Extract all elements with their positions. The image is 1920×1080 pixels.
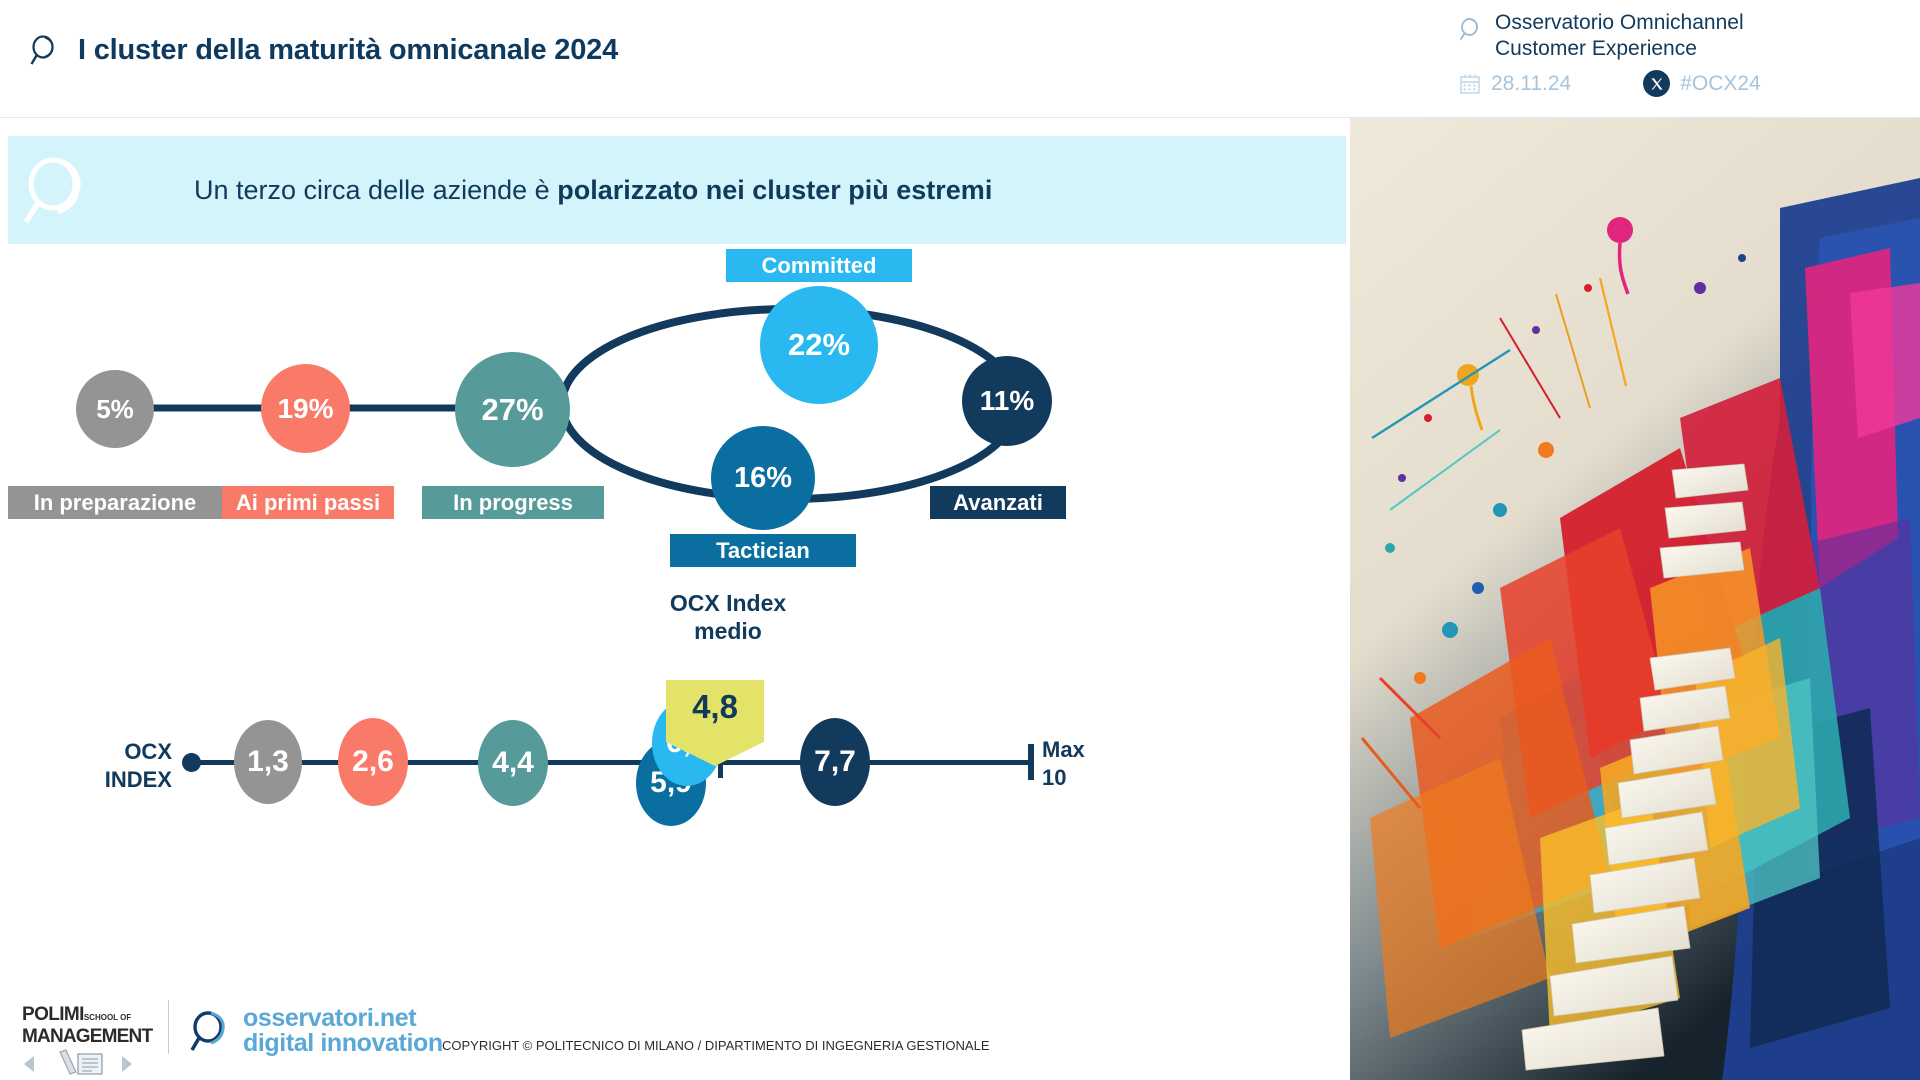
hashtag-label: #OCX24 <box>1680 72 1761 96</box>
cluster-share: 5% <box>96 394 134 425</box>
polimi-line-2: MANAGEMENT <box>22 1026 148 1048</box>
axis-end-tick <box>1028 744 1034 780</box>
polimi-word: POLIMI <box>22 1004 84 1025</box>
caption-line-1: OCX Index <box>648 590 808 618</box>
footer-divider <box>168 1000 169 1054</box>
cluster-node-avanzati[interactable]: 11% <box>962 356 1052 446</box>
page-header: I cluster della maturità omnicanale 2024… <box>0 0 1920 118</box>
title-row: I cluster della maturità omnicanale 2024 <box>28 33 618 67</box>
ocx-value: 1,3 <box>247 745 289 779</box>
magnifier-icon <box>20 152 96 228</box>
polimi-logo: POLIMISCHOOL OF MANAGEMENT <box>22 1004 148 1080</box>
oss-line-1: osservatori.net <box>243 1006 443 1031</box>
ocx-bubble-ai-primi-passi[interactable]: 2,6 <box>338 718 408 806</box>
ocx-bubble-avanzati[interactable]: 7,7 <box>800 718 870 806</box>
magnifier-icon <box>1458 16 1484 42</box>
meta-row: 28.11.24 #OCX24 <box>1458 70 1878 97</box>
cluster-node-in-preparazione[interactable]: 5% <box>76 370 154 448</box>
ocx-value: 7,7 <box>814 745 856 779</box>
ocx-average-value: 4,8 <box>692 688 738 726</box>
caption-line-2: medio <box>648 618 808 646</box>
brand-line-2: Customer Experience <box>1495 36 1744 62</box>
axis-line <box>190 760 1030 765</box>
cluster-node-ai-primi-passi[interactable]: 19% <box>261 364 350 453</box>
callout-banner: Un terzo circa delle aziende è polarizza… <box>8 136 1346 244</box>
page-title: I cluster della maturità omnicanale 2024 <box>78 34 618 67</box>
axis-title: OCX INDEX <box>62 738 172 793</box>
cluster-label-ai-primi-passi: Ai primi passi <box>222 486 394 519</box>
publication-date: 28.11.24 <box>1491 72 1571 96</box>
header-meta: Osservatorio Omnichannel Customer Experi… <box>1458 10 1878 97</box>
callout-text: Un terzo circa delle aziende è polarizza… <box>194 175 992 206</box>
label-text: Avanzati <box>953 490 1043 516</box>
cluster-label-in-progress: In progress <box>422 486 604 519</box>
brand-text: Osservatorio Omnichannel Customer Experi… <box>1495 10 1744 61</box>
cluster-share: 27% <box>481 392 543 428</box>
brand-row: Osservatorio Omnichannel Customer Experi… <box>1458 10 1878 61</box>
label-text: Ai primi passi <box>236 490 380 516</box>
callout-text-plain: Un terzo circa delle aziende è <box>194 175 557 205</box>
label-text: In progress <box>453 490 573 516</box>
axis-title-line-1: OCX <box>62 738 172 766</box>
axis-max-label: Max 10 <box>1042 736 1085 791</box>
axis-max-line-1: Max <box>1042 736 1085 764</box>
ocx-average-caption: OCX Index medio <box>648 590 808 645</box>
brand-line-1: Osservatorio Omnichannel <box>1495 10 1744 36</box>
cluster-label-avanzati: Avanzati <box>930 486 1066 519</box>
calendar-icon <box>1459 73 1481 95</box>
oss-word-main: osservatori <box>243 1004 373 1032</box>
oss-line-2: digital innovation <box>243 1031 443 1056</box>
cluster-label-tactician: Tactician <box>670 534 856 567</box>
ocx-bubble-in-progress[interactable]: 4,4 <box>478 720 548 806</box>
cluster-share: 19% <box>277 393 333 425</box>
axis-max-line-2: 10 <box>1042 764 1085 792</box>
label-text: Committed <box>762 253 877 279</box>
osservatori-wordmark: osservatori.net digital innovation <box>243 1006 443 1056</box>
label-text: In preparazione <box>34 490 197 516</box>
cluster-label-committed: Committed <box>726 249 912 282</box>
osservatori-logo: osservatori.net digital innovation <box>188 1006 443 1056</box>
magnifier-icon <box>28 33 62 67</box>
page-footer: POLIMISCHOOL OF MANAGEMENT osservatori.n… <box>0 990 1348 1080</box>
hero-artwork <box>1350 118 1920 1080</box>
ocx-value: 4,4 <box>492 746 534 780</box>
cluster-node-in-progress[interactable]: 27% <box>455 352 570 467</box>
cluster-node-committed[interactable]: 22% <box>760 286 878 404</box>
cluster-share: 11% <box>980 385 1035 417</box>
ocx-index-axis: OCX INDEX Max 10 1,3 2,6 4,4 5,9 6,1 7,7… <box>0 660 1348 990</box>
polimi-subtitle: SCHOOL OF <box>84 1013 131 1022</box>
ocx-value: 2,6 <box>352 745 394 779</box>
cluster-label-in-preparazione: In preparazione <box>8 486 222 519</box>
oss-word-tld: .net <box>373 1004 416 1032</box>
cluster-share: 16% <box>734 462 792 495</box>
ocx-bubble-in-preparazione[interactable]: 1,3 <box>234 720 302 804</box>
label-text: Tactician <box>716 538 810 564</box>
x-twitter-icon[interactable] <box>1643 70 1670 97</box>
axis-title-line-2: INDEX <box>62 766 172 794</box>
magnifier-icon <box>188 1008 234 1054</box>
cluster-share: 22% <box>788 327 850 363</box>
polimi-mark-icon <box>22 1048 134 1078</box>
polimi-line-1: POLIMISCHOOL OF <box>22 1004 148 1026</box>
callout-text-bold: polarizzato nei cluster più estremi <box>557 175 992 205</box>
copyright-text: COPYRIGHT © POLITECNICO DI MILANO / DIPA… <box>442 1038 990 1053</box>
cluster-node-tactician[interactable]: 16% <box>711 426 815 530</box>
